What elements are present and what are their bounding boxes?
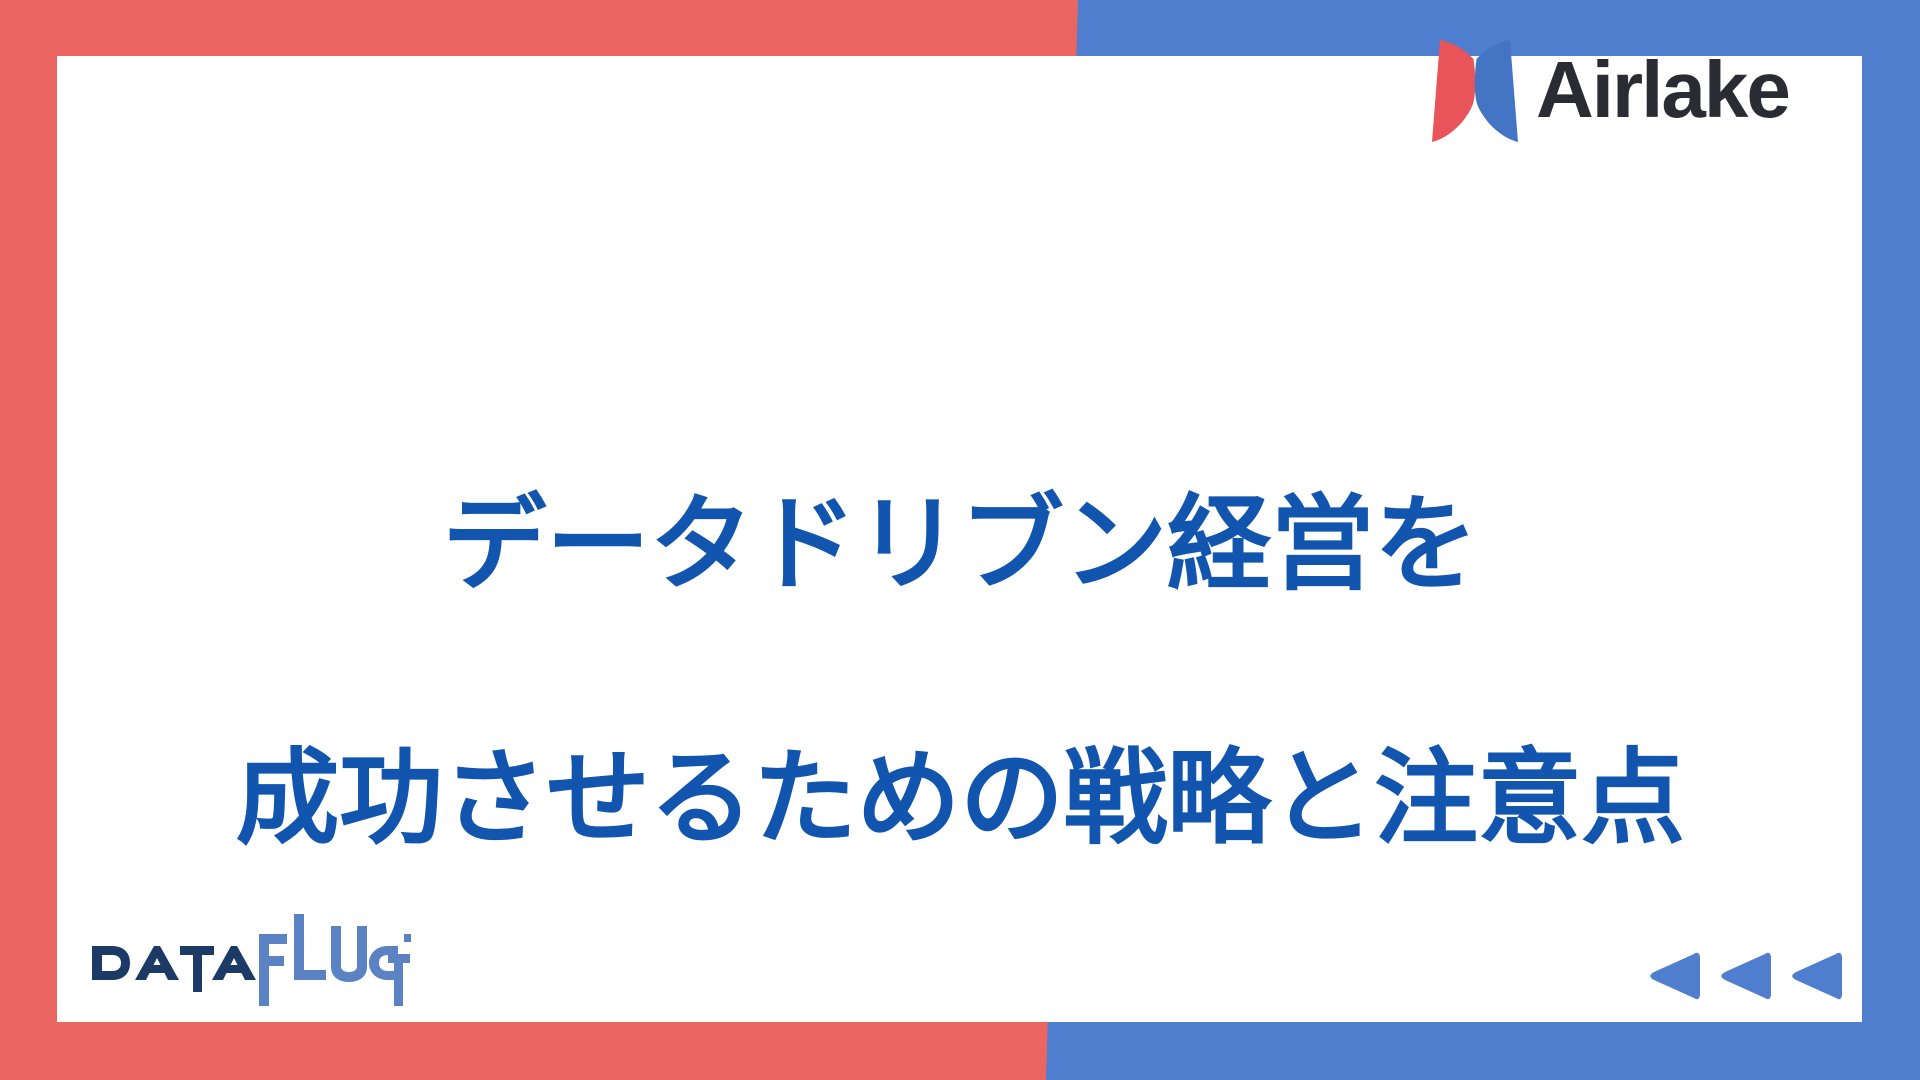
datafluct-logo: DATAFLUCT <box>88 906 412 1010</box>
page-title: データドリブン経営を 成功させるための戦略と注意点 <box>0 355 1920 989</box>
triangle-left-icon <box>1788 948 1842 1004</box>
airlake-wordmark: Airlake <box>1536 49 1866 135</box>
datafluct-logo-mark <box>88 906 412 1010</box>
airlake-logo: Airlake Airlake <box>1432 38 1866 146</box>
triangle-left-icon <box>1717 948 1771 1004</box>
slide-canvas: Airlake Airlake データドリブン経営を 成功させるための戦略と注意… <box>0 0 1920 1080</box>
page-title-line-2: 成功させるための戦略と注意点 <box>0 736 1920 863</box>
triangle-left-icon <box>1646 948 1700 1004</box>
airlake-mark-icon <box>1432 38 1518 146</box>
svg-text:Airlake: Airlake <box>1536 49 1789 134</box>
page-title-line-1: データドリブン経営を <box>0 482 1920 609</box>
decorative-arrow-group <box>1646 948 1842 1004</box>
